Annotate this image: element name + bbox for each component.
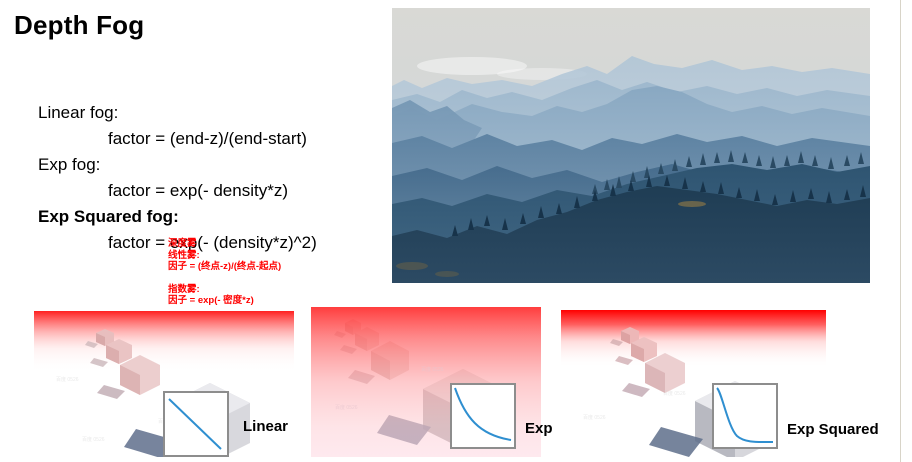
formula-line: Exp Squared fog:: [38, 208, 317, 234]
curve-path-exp-squared: [717, 388, 773, 442]
curve-thumb-exp[interactable]: [450, 383, 516, 449]
formula-line: Linear fog:: [38, 104, 317, 130]
formula-line: factor = exp(- density*z): [38, 182, 317, 208]
curve-thumb-exp-squared[interactable]: [712, 383, 778, 449]
svg-text:百度 0526: 百度 0526: [82, 436, 105, 443]
svg-text:百度 0526: 百度 0526: [663, 390, 686, 397]
svg-text:百度 0526: 百度 0526: [56, 376, 79, 383]
formula-text: Exp Squared fog:: [38, 207, 179, 226]
curve-path-exp: [455, 388, 511, 440]
formula-text: factor = (end-z)/(end-start): [108, 129, 307, 148]
curve-label-exp-squared: Exp Squared: [787, 421, 879, 438]
page-right-margin: [901, 0, 912, 462]
page-title: Depth Fog: [14, 10, 144, 41]
formula-text: Exp fog:: [38, 155, 100, 174]
translation-line: 指数雾:: [168, 284, 281, 296]
svg-text:百度 0526: 百度 0526: [335, 404, 358, 411]
translation-line: 线性雾:: [168, 250, 281, 262]
translation-spacer: [168, 273, 281, 284]
svg-text:百度 0526: 百度 0526: [583, 414, 606, 421]
formula-line: factor = (end-z)/(end-start): [38, 130, 317, 156]
curve-thumb-linear[interactable]: [163, 391, 229, 457]
formula-line: Exp fog:: [38, 156, 317, 182]
curve-path-linear: [169, 399, 221, 449]
formula-text: Linear fog:: [38, 103, 118, 122]
translation-line: 因子 = exp(- 密度*z): [168, 295, 281, 307]
hazy-mountain-photo: [392, 8, 870, 283]
slide-canvas: Depth Fog Linear fog: factor = (end-z)/(…: [0, 0, 912, 462]
formula-text: factor = exp(- density*z): [108, 181, 288, 200]
curve-label-exp: Exp: [525, 420, 553, 437]
formula-block: Linear fog: factor = (end-z)/(end-start)…: [38, 104, 317, 260]
curve-label-linear: Linear: [243, 418, 288, 435]
translation-line: 因子 = (终点-z)/(终点-起点): [168, 261, 281, 273]
svg-text:百度 0526: 百度 0526: [421, 366, 444, 373]
translation-line: 深度雾: [168, 238, 281, 250]
